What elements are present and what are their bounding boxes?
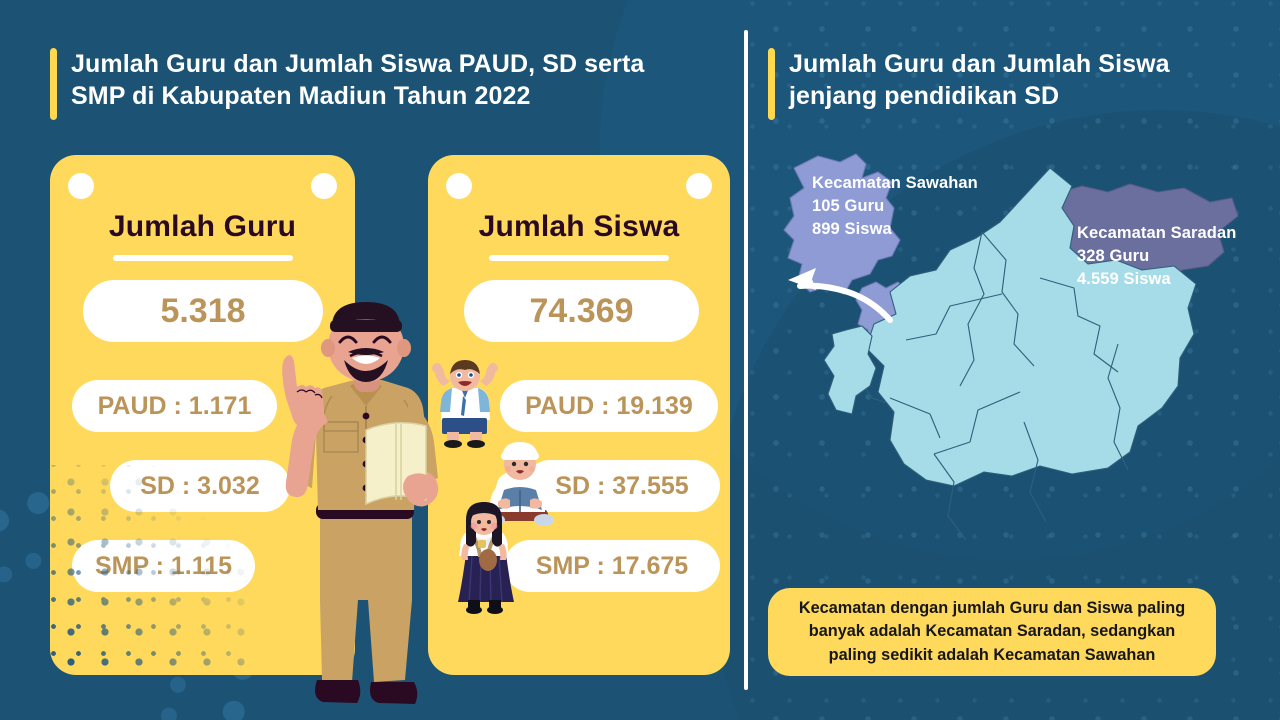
title-accent-bar — [768, 48, 775, 120]
title-accent-bar — [50, 48, 57, 120]
panel-divider — [744, 30, 748, 690]
card-punch-hole-left — [446, 173, 472, 199]
infographic-canvas: Jumlah Guru dan Jumlah Siswa PAUD, SD se… — [0, 0, 1280, 720]
card-guru-row-paud: PAUD : 1.171 — [72, 380, 277, 432]
map-caption-box: Kecamatan dengan jumlah Guru dan Siswa p… — [768, 588, 1216, 676]
left-panel-title: Jumlah Guru dan Jumlah Siswa PAUD, SD se… — [50, 48, 644, 120]
map-label-saradan: Kecamatan Saradan 328 Guru 4.559 Siswa — [1077, 222, 1236, 290]
card-punch-hole-right — [686, 173, 712, 199]
student-girl-illustration — [448, 500, 520, 618]
card-guru-underline — [113, 255, 293, 261]
card-siswa-underline — [489, 255, 669, 261]
card-siswa-title: Jumlah Siswa — [428, 210, 730, 244]
left-panel-title-text: Jumlah Guru dan Jumlah Siswa PAUD, SD se… — [71, 48, 644, 120]
card-punch-hole-left — [68, 173, 94, 199]
card-siswa-row-paud: PAUD : 19.139 — [500, 380, 718, 432]
card-guru-title: Jumlah Guru — [50, 210, 355, 244]
map-label-sawahan: Kecamatan Sawahan 105 Guru 899 Siswa — [812, 172, 978, 240]
student-cheering-illustration — [428, 358, 502, 448]
card-punch-hole-right — [311, 173, 337, 199]
card-siswa-total-value: 74.369 — [464, 280, 699, 342]
right-panel-title: Jumlah Guru dan Jumlah Siswa jenjang pen… — [768, 48, 1170, 120]
card-siswa-row-smp: SMP : 17.675 — [504, 540, 720, 592]
confetti-dots-decoration — [50, 465, 250, 675]
right-panel-title-text: Jumlah Guru dan Jumlah Siswa jenjang pen… — [789, 48, 1170, 120]
map-region-west-strip — [824, 326, 876, 414]
